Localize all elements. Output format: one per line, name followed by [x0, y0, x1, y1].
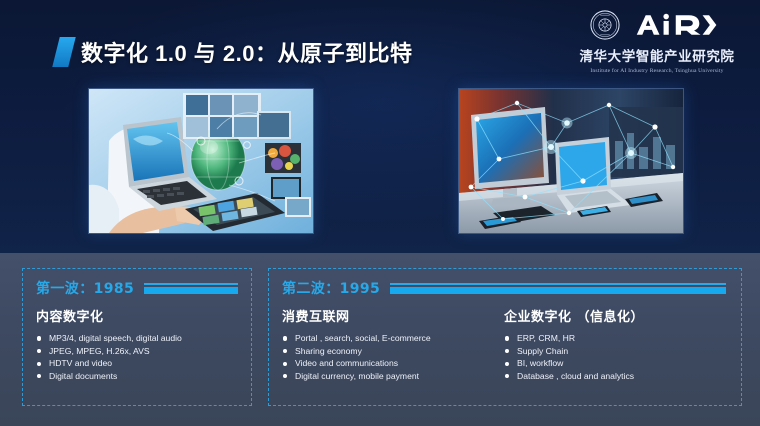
content-digitization-bullets: MP3/4, digital speech, digital audio JPE…	[36, 332, 182, 382]
list-item: Video and communications	[282, 357, 431, 370]
logo-top-row	[568, 8, 746, 42]
list-item: BI, workflow	[504, 357, 634, 370]
logo-english-name: Institute for AI Industry Research, Tsin…	[568, 68, 746, 74]
photo-right-artwork	[459, 89, 683, 233]
title-accent-shape	[52, 37, 75, 67]
list-item: Portal , search, social, E-commerce	[282, 332, 431, 345]
connected-workplace-network-photo	[458, 88, 684, 234]
list-item: Digital documents	[36, 370, 182, 383]
wave-1-accent-bars	[144, 283, 238, 294]
slide: 数字化 1.0 与 2.0：从原子到比特 清华大学智能产业研究院 Ins	[0, 0, 760, 426]
wave-2-header: 第二波：1995	[282, 278, 726, 298]
wave-1-bar-thick	[144, 287, 238, 294]
page-title: 数字化 1.0 与 2.0：从原子到比特	[81, 36, 413, 68]
column-title-consumer-internet: 消费互联网	[282, 306, 350, 325]
list-item: Sharing economy	[282, 345, 431, 358]
wave-2-accent-bars	[390, 283, 726, 294]
list-item: MP3/4, digital speech, digital audio	[36, 332, 182, 345]
column-title-enterprise-digitization: 企业数字化 （信息化）	[504, 306, 644, 325]
wave-2-bar-thin	[390, 283, 726, 285]
list-item: HDTV and video	[36, 357, 182, 370]
list-item: JPEG, MPEG, H.26x, AVS	[36, 345, 182, 358]
enterprise-digitization-bullets: ERP, CRM, HR Supply Chain BI, workflow D…	[504, 332, 634, 382]
digital-content-devices-photo	[88, 88, 314, 234]
tsinghua-seal-icon	[590, 10, 620, 40]
air-wordmark-icon	[627, 12, 725, 38]
column-title-content-digitization: 内容数字化	[36, 306, 104, 325]
logo-chinese-name: 清华大学智能产业研究院	[568, 45, 746, 65]
wave-1-label: 第一波：1985	[36, 278, 134, 298]
consumer-internet-bullets: Portal , search, social, E-commerce Shar…	[282, 332, 431, 382]
wave-1-header: 第一波：1985	[36, 278, 238, 298]
photo-left-artwork	[89, 89, 313, 233]
list-item: Digital currency, mobile payment	[282, 370, 431, 383]
wave-1-bar-thin	[144, 283, 238, 285]
list-item: Database , cloud and analytics	[504, 370, 634, 383]
wave-2-label: 第二波：1995	[282, 278, 380, 298]
list-item: Supply Chain	[504, 345, 634, 358]
list-item: ERP, CRM, HR	[504, 332, 634, 345]
slide-title-row: 数字化 1.0 与 2.0：从原子到比特	[56, 36, 413, 68]
wave-2-bar-thick	[390, 287, 726, 294]
institute-logo: 清华大学智能产业研究院 Institute for AI Industry Re…	[568, 8, 746, 74]
